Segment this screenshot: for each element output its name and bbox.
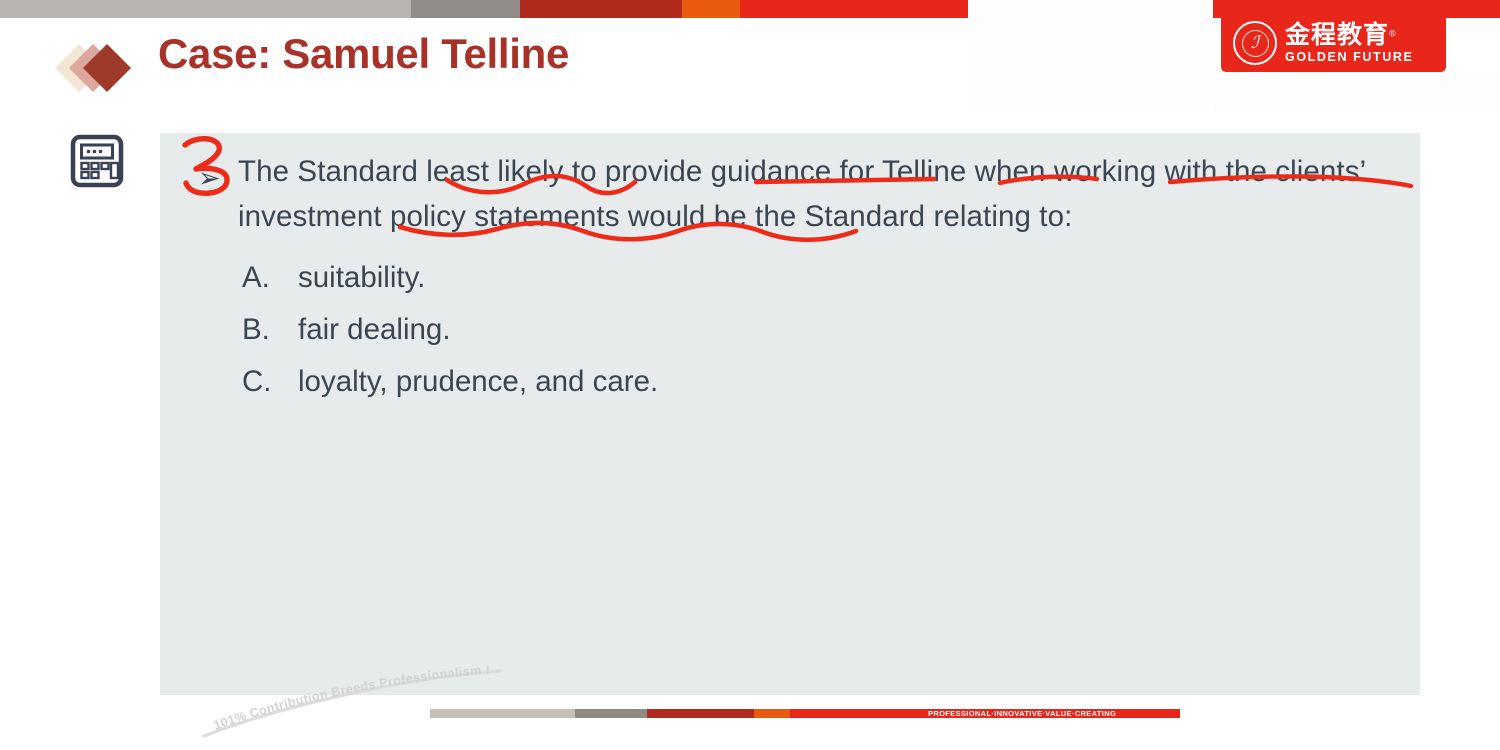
page-title: Case: Samuel Telline (158, 30, 569, 78)
question-text: The Standard least likely to provide gui… (238, 149, 1394, 239)
list-item[interactable]: A. suitability. (242, 252, 1394, 304)
diamond-bullet-icon (60, 40, 150, 96)
bottom-bar-segment-dark-red (647, 709, 754, 718)
brand-logo: ℐ 金程教育® GOLDEN FUTURE (1221, 14, 1446, 72)
option-text: suitability. (298, 252, 425, 304)
registered-mark-icon: ® (1389, 29, 1396, 39)
slide-header: Case: Samuel Telline (0, 30, 1200, 102)
logo-seal-monogram: ℐ (1242, 30, 1269, 57)
option-letter: C. (242, 356, 298, 408)
answer-options-list: A. suitability. B. fair dealing. C. loya… (242, 252, 1394, 408)
option-letter: A. (242, 252, 298, 304)
footer-tagline: PROFESSIONAL·INNOVATIVE·VALUE·CREATING (928, 709, 1116, 718)
list-item[interactable]: C. loyalty, prudence, and care. (242, 356, 1394, 408)
logo-english-name: GOLDEN FUTURE (1285, 51, 1413, 64)
footer-arc-watermark: 101% Contribution Breeds Professionalism… (190, 660, 710, 740)
bottom-bar-segment-orange (754, 709, 790, 718)
bottom-bar-segment-mid-gray (575, 709, 647, 718)
top-bar-segment-dark-red (520, 0, 682, 18)
question-block: ➢ The Standard least likely to provide g… (186, 149, 1394, 239)
option-text: loyalty, prudence, and care. (298, 356, 658, 408)
logo-chinese-name-row: 金程教育® (1285, 22, 1413, 47)
logo-chinese-name: 金程教育 (1285, 22, 1389, 47)
arrow-bullet-icon: ➢ (198, 165, 221, 192)
list-item[interactable]: B. fair dealing. (242, 304, 1394, 356)
bottom-bar-segment-light-gray (430, 709, 575, 718)
question-panel: ➢ The Standard least likely to provide g… (160, 133, 1420, 695)
calculator-icon (70, 134, 124, 188)
decorative-panel-lower (1213, 72, 1500, 112)
top-bar-segment-dark-gray (411, 0, 520, 18)
logo-seal-icon: ℐ (1233, 21, 1277, 65)
svg-text:101% Contribution Breeds Profe: 101% Contribution Breeds Professionalism… (212, 663, 491, 733)
top-bar-segment-light-gray (0, 0, 411, 18)
option-letter: B. (242, 304, 298, 356)
option-text: fair dealing. (298, 304, 451, 356)
top-bar-segment-orange (682, 0, 740, 18)
